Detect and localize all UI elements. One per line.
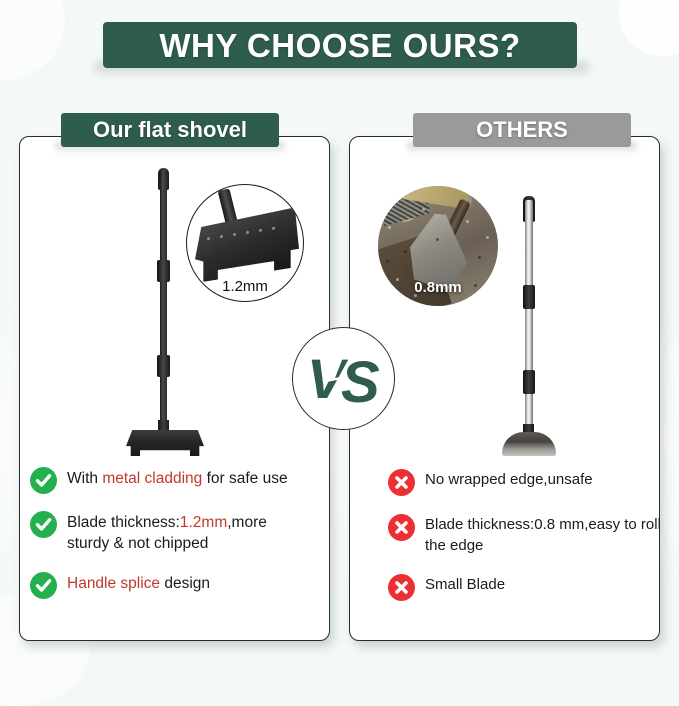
feature-text-segment: Handle splice: [67, 575, 160, 592]
page-title: WHY CHOOSE OURS?: [159, 29, 520, 62]
versus-badge: V S: [292, 327, 395, 430]
inset-photo-ours: 1.2mm: [186, 184, 304, 302]
x-circle-icon: [388, 469, 415, 496]
inset-photo-others: 0.8mm: [378, 186, 498, 306]
feature-text-segment: Blade thickness:0.8 mm,easy to roll the …: [425, 516, 661, 554]
feature-text: No wrapped edge,unsafe: [425, 468, 593, 491]
column-label-plate-others: OTHERS: [413, 113, 631, 147]
feature-item: Blade thickness:0.8 mm,easy to roll the …: [388, 513, 664, 556]
feature-item: Blade thickness:1.2mm,more sturdy & not …: [30, 510, 306, 555]
column-label-text-ours: Our flat shovel: [93, 119, 247, 141]
shovel-others-grip-lower: [523, 370, 535, 394]
feature-text-segment: design: [160, 575, 210, 592]
feature-text: With metal cladding for safe use: [67, 466, 288, 489]
x-circle-icon: [388, 574, 415, 601]
shovel-others-handle: [525, 200, 533, 435]
page-title-plate: WHY CHOOSE OURS?: [103, 22, 577, 68]
shovel-others-grip-upper: [523, 285, 535, 309]
feature-text-segment: 1.2mm: [180, 514, 227, 531]
decorative-blob-top-left: [0, 0, 65, 80]
svg-text:S: S: [341, 350, 380, 415]
column-label-ours: Our flat shovel: [61, 113, 279, 147]
feature-text-segment: Blade thickness:: [67, 514, 180, 531]
check-circle-icon: [30, 467, 57, 494]
shovel-ours-splice-joint-lower: [157, 355, 170, 377]
feature-item: Small Blade: [388, 573, 664, 601]
feature-item: No wrapped edge,unsafe: [388, 468, 664, 496]
x-circle-icon: [388, 514, 415, 541]
feature-text-segment: for safe use: [202, 470, 287, 487]
feature-text: Blade thickness:0.8 mm,easy to roll the …: [425, 513, 664, 556]
shovel-ours-handle: [160, 172, 167, 434]
feature-item: With metal cladding for safe use: [30, 466, 306, 494]
feature-text: Handle splice design: [67, 571, 210, 594]
column-label-others: OTHERS: [413, 113, 631, 147]
feature-list-ours: With metal cladding for safe useBlade th…: [30, 466, 306, 615]
vs-icon: V S: [293, 328, 392, 427]
feature-text-segment: No wrapped edge,unsafe: [425, 471, 593, 488]
check-circle-icon: [30, 511, 57, 538]
inset-caption-others: 0.8mm: [378, 279, 498, 296]
feature-text: Small Blade: [425, 573, 505, 596]
column-label-text-others: OTHERS: [476, 119, 568, 141]
feature-text-segment: With: [67, 470, 102, 487]
feature-text-segment: Small Blade: [425, 576, 505, 593]
page-title-banner: WHY CHOOSE OURS?: [103, 22, 577, 68]
feature-item: Handle splice design: [30, 571, 306, 599]
column-label-plate-ours: Our flat shovel: [61, 113, 279, 147]
inset-caption-ours: 1.2mm: [187, 278, 303, 295]
feature-text: Blade thickness:1.2mm,more sturdy & not …: [67, 510, 306, 555]
decorative-blob-top-right: [619, 0, 679, 56]
check-circle-icon: [30, 572, 57, 599]
shovel-ours-splice-joint-upper: [157, 260, 170, 282]
feature-text-segment: metal cladding: [102, 470, 202, 487]
feature-list-others: No wrapped edge,unsafeBlade thickness:0.…: [388, 468, 664, 618]
